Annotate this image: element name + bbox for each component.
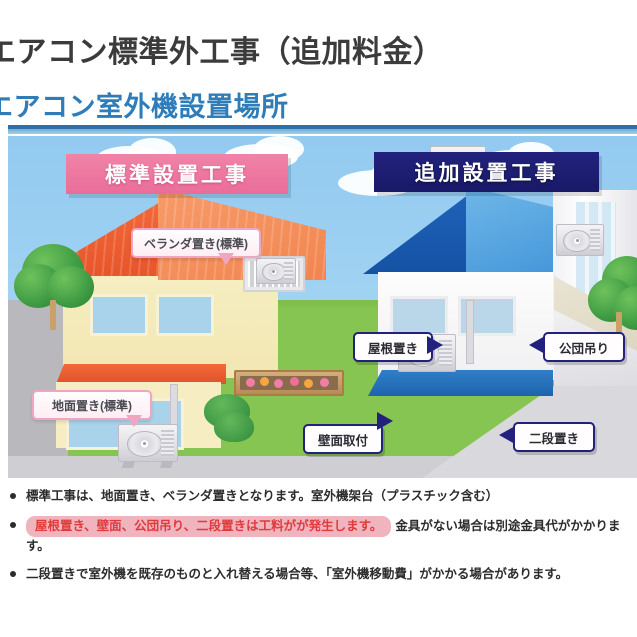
bullet-icon bbox=[10, 522, 16, 528]
note-item: 屋根置き、壁面、公団吊り、二段置きは工料がが発生します。金具がない場合は別途金具… bbox=[10, 516, 630, 556]
note-item: 二段置きで室外機を既存のものと入れ替える場合等、「室外機移動費」がかかる場合があ… bbox=[10, 565, 630, 584]
page-root: エアコン標準外工事（追加料金） エアコン室外機設置場所 bbox=[0, 0, 637, 637]
note-highlight: 屋根置き、壁面、公団吊り、二段置きは工料がが発生します。 bbox=[26, 516, 391, 537]
house-window bbox=[90, 294, 148, 336]
ac-unit-hanging bbox=[556, 224, 602, 254]
bullet-icon bbox=[10, 493, 16, 499]
label-hanging-mount: 公団吊り bbox=[543, 332, 625, 362]
flower-planter bbox=[234, 370, 344, 396]
bush bbox=[214, 412, 254, 442]
installation-diagram: 標準設置工事 追加設置工事 ベランダ置き(標準) 地面置き(標準) 屋根置き 壁… bbox=[8, 136, 637, 478]
banner-standard-install: 標準設置工事 bbox=[66, 154, 288, 194]
ac-unit-veranda bbox=[256, 258, 294, 282]
label-wall-mount: 壁面取付 bbox=[303, 424, 383, 454]
note-text: 標準工事は、地面置き、ベランダ置きとなります。室外機架台（プラスチック含む） bbox=[26, 487, 630, 506]
label-veranda-placement: ベランダ置き(標準) bbox=[131, 228, 261, 258]
label-roof-tail bbox=[427, 336, 443, 354]
label-hanging-tail bbox=[529, 336, 545, 354]
note-item: 標準工事は、地面置き、ベランダ置きとなります。室外機架台（プラスチック含む） bbox=[10, 487, 630, 506]
bullet-icon bbox=[10, 571, 16, 577]
house-lower-roof bbox=[56, 364, 226, 384]
label-stacked-tail bbox=[499, 426, 515, 444]
building-window bbox=[390, 296, 448, 336]
label-stacked-placement: 二段置き bbox=[513, 422, 595, 452]
building-lower-roof bbox=[368, 370, 553, 396]
label-roof-placement: 屋根置き bbox=[353, 332, 433, 362]
label-veranda-tail bbox=[218, 253, 234, 265]
note-text: 二段置きで室外機を既存のものと入れ替える場合等、「室外機移動費」がかかる場合があ… bbox=[26, 565, 630, 584]
title-underline-bar bbox=[8, 125, 637, 134]
page-title: エアコン標準外工事（追加料金） bbox=[0, 38, 637, 68]
house-window bbox=[156, 294, 214, 336]
refrigerant-pipe bbox=[466, 300, 474, 364]
label-ground-tail bbox=[126, 415, 142, 427]
label-wall-tail bbox=[377, 412, 393, 430]
section-title: エアコン室外機設置場所 bbox=[0, 94, 637, 121]
notes-list: 標準工事は、地面置き、ベランダ置きとなります。室外機架台（プラスチック含む） 屋… bbox=[10, 487, 630, 594]
ac-unit-ground bbox=[118, 424, 176, 460]
banner-additional-install: 追加設置工事 bbox=[374, 152, 599, 192]
note-text-group: 屋根置き、壁面、公団吊り、二段置きは工料がが発生します。金具がない場合は別途金具… bbox=[26, 516, 630, 556]
